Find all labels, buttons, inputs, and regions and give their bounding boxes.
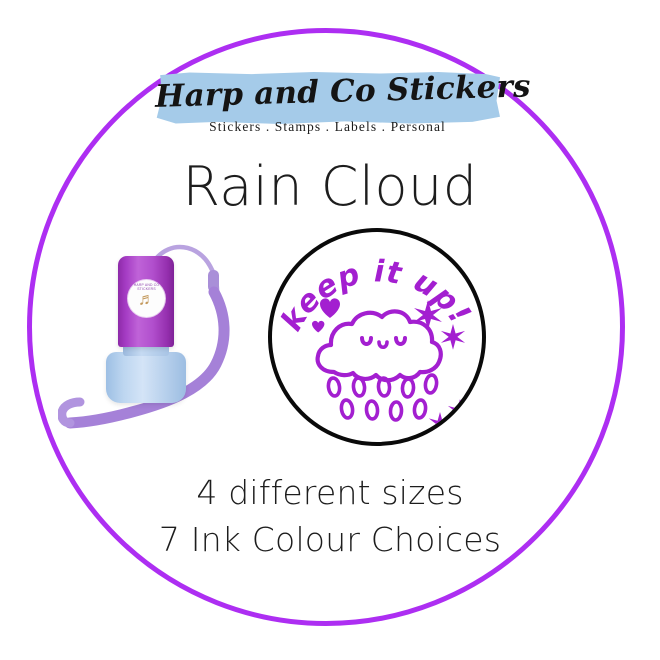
stamp-design-preview: keep it up!: [268, 228, 486, 446]
product-title: Rain Cloud: [0, 155, 660, 218]
feature-list: 4 different sizes 7 Ink Colour Choices: [0, 470, 660, 564]
raindrop-row-bottom: [340, 399, 426, 420]
harp-icon: ♬: [138, 291, 155, 308]
sparkle-icon-3: [429, 412, 451, 436]
sparkle-icon-4: [448, 399, 472, 425]
brand-tagline: Stickers . Stamps . Labels . Personal: [155, 119, 500, 135]
feature-line-colours: 7 Ink Colour Choices: [0, 517, 660, 564]
stamp-product-photo: HARP AND CO STICKERS ♬: [58, 232, 248, 440]
stamp-design-artwork: keep it up!: [272, 232, 482, 442]
brand-banner: Harp and Co Stickers Stickers . Stamps .…: [155, 72, 500, 140]
raindrop-row-top: [327, 374, 437, 397]
heart-icon-small: [312, 321, 324, 333]
sparkle-icon-2: [441, 324, 465, 350]
stamp-base: [106, 352, 186, 403]
product-image-canvas: Harp and Co Stickers Stickers . Stamps .…: [0, 0, 660, 660]
stamp-logo-badge: HARP AND CO STICKERS ♬: [128, 280, 165, 317]
feature-line-sizes: 4 different sizes: [0, 470, 660, 517]
